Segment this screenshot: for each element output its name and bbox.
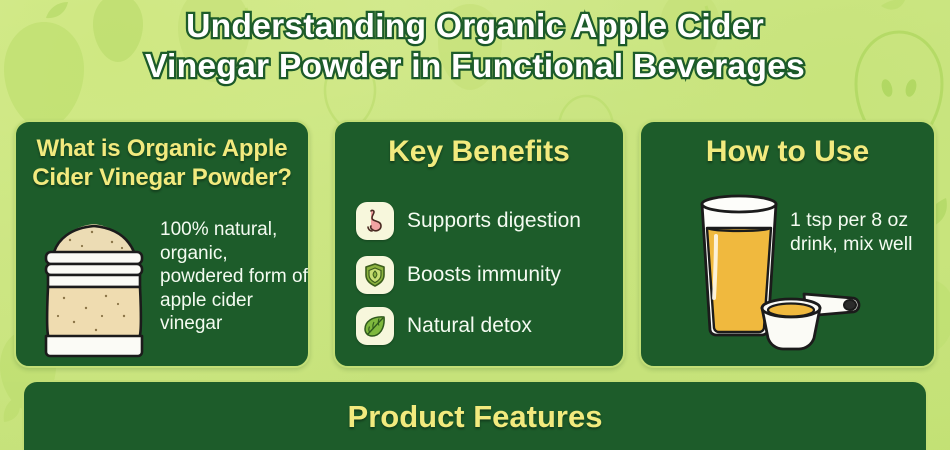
card-key-benefits-title: Key Benefits <box>345 134 613 170</box>
page-title-line-2: Vinegar Powder in Functional Beverages <box>0 46 950 86</box>
card-how-to-use-body: 1 tsp per 8 oz drink, mix well <box>790 208 930 256</box>
powder-jar-icon <box>34 212 154 360</box>
benefit-label-digestion: Supports digestion <box>407 209 581 233</box>
card-how-to-use-title: How to Use <box>651 134 924 170</box>
shield-icon <box>356 256 394 294</box>
product-features-banner: Product Features <box>22 380 928 450</box>
benefit-label-detox: Natural detox <box>407 314 532 338</box>
benefit-item-immunity: Boosts immunity <box>356 256 561 294</box>
card-what-is-title: What is Organic Apple Cider Vinegar Powd… <box>26 134 298 192</box>
benefit-item-detox: Natural detox <box>356 307 532 345</box>
leaf-icon <box>356 307 394 345</box>
page-title-line-1: Understanding Organic Apple Cider <box>0 6 950 46</box>
infographic-root: Understanding Organic Apple Cider Vinega… <box>0 0 950 450</box>
benefit-label-immunity: Boosts immunity <box>407 263 561 287</box>
benefit-item-digestion: Supports digestion <box>356 202 581 240</box>
page-title: Understanding Organic Apple Cider Vinega… <box>0 6 950 86</box>
card-what-is-body: 100% natural, organic, powdered form of … <box>160 218 310 336</box>
product-features-title: Product Features <box>24 398 926 436</box>
stomach-icon <box>356 202 394 240</box>
